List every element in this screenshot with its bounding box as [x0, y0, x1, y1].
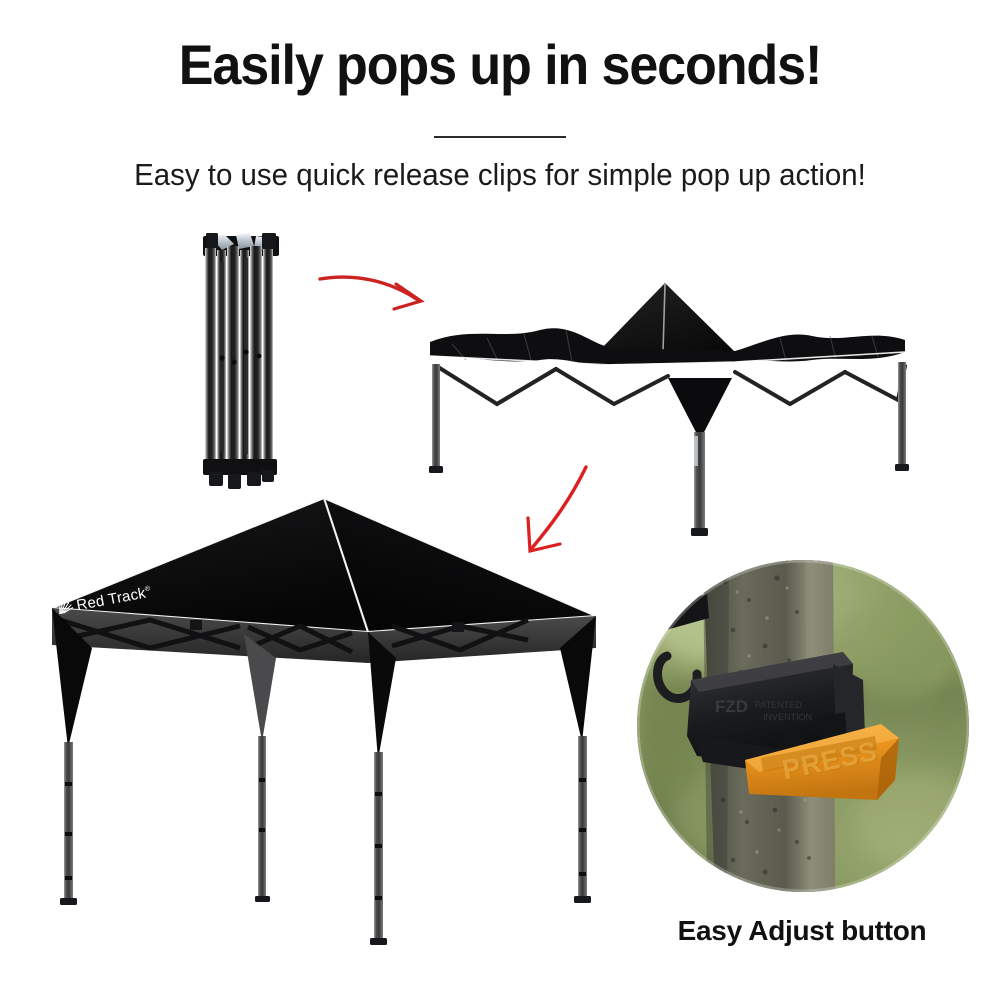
- svg-text:INVENTION: INVENTION: [763, 712, 812, 722]
- easy-adjust-photo-inset: FZD PATENTED INVENTION PRESS PRESS: [637, 560, 969, 892]
- page-subhead: Easy to use quick release clips for simp…: [25, 157, 975, 193]
- figure-open-gazebo: [52, 498, 596, 945]
- arrow-2-icon: [528, 467, 586, 551]
- clamp-embossed-text: FZD: [715, 697, 748, 716]
- brand-wordmark: Red Track®: [55, 583, 152, 619]
- inset-caption: Easy Adjust button: [600, 915, 1000, 947]
- header-divider: [434, 136, 566, 138]
- brand-name: Red Track: [75, 585, 147, 615]
- sunburst-icon: [55, 597, 75, 619]
- arrow-1-icon: [320, 277, 421, 309]
- figure-folded-frame: [203, 233, 279, 489]
- folded-frame-feet: [203, 459, 277, 489]
- brand-trademark: ®: [144, 585, 151, 593]
- clamp-embossed-sub: PATENTED: [755, 700, 802, 710]
- infographic-page: Easily pops up in seconds! Easy to use q…: [0, 0, 1000, 1000]
- figure-half-open-gazebo: [429, 283, 909, 536]
- folded-frame-connectors: [203, 233, 279, 256]
- folded-frame-poles: [205, 246, 273, 466]
- page-headline: Easily pops up in seconds!: [35, 36, 965, 95]
